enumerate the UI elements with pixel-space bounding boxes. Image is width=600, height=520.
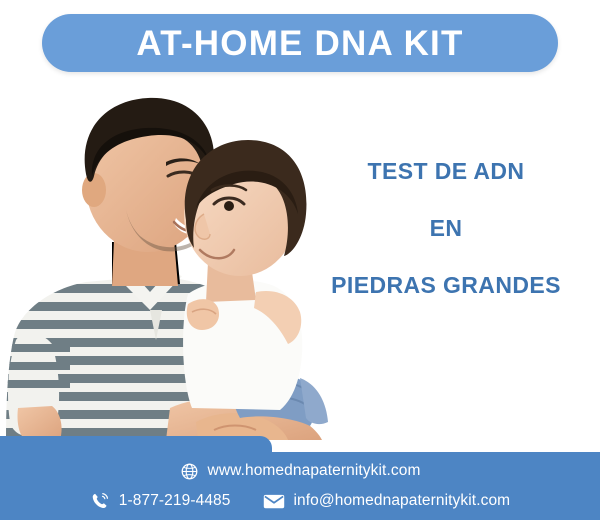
footer-phone[interactable]: 1-877-219-4485	[90, 491, 231, 511]
poster-root: AT-HOME DNA KIT	[0, 0, 600, 520]
man-ear	[82, 173, 106, 207]
child-hand	[187, 299, 219, 330]
footer-row-website: www.homednapaternitykit.com	[0, 458, 600, 484]
footer-website[interactable]: www.homednapaternitykit.com	[180, 462, 421, 481]
phone-label: 1-877-219-4485	[119, 493, 231, 509]
website-label: www.homednapaternitykit.com	[208, 463, 421, 479]
headline-block: TEST DE ADN EN PIEDRAS GRANDES	[300, 160, 592, 297]
email-label: info@homednapaternitykit.com	[294, 493, 511, 509]
title-banner: AT-HOME DNA KIT	[42, 14, 558, 72]
man-forearm-left	[17, 406, 61, 440]
headline-line-3: PIEDRAS GRANDES	[300, 274, 592, 297]
envelope-icon	[263, 493, 285, 510]
headline-line-1: TEST DE ADN	[300, 160, 592, 183]
headline-line-2: EN	[300, 217, 592, 240]
family-photo-illustration	[0, 78, 340, 440]
phone-icon	[90, 491, 110, 511]
child-pupil	[224, 201, 234, 211]
banner-title: AT-HOME DNA KIT	[136, 26, 463, 61]
footer-row-phone-email: 1-877-219-4485 info@homednapaternitykit.…	[0, 488, 600, 514]
footer-contact-info: www.homednapaternitykit.com 1-877-219-44…	[0, 452, 600, 520]
globe-icon	[180, 462, 199, 481]
footer-email[interactable]: info@homednapaternitykit.com	[263, 493, 511, 510]
family-photo	[0, 78, 340, 440]
